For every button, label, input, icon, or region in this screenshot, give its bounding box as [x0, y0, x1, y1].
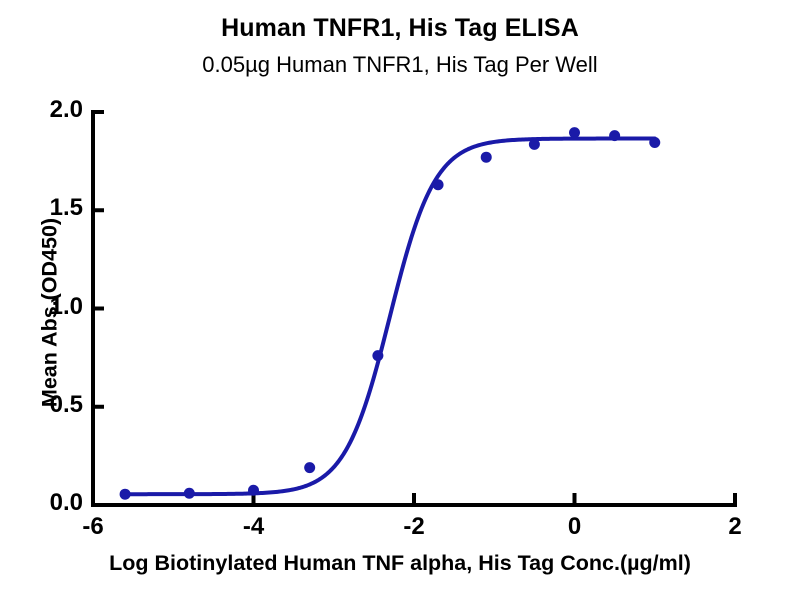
- x-tick-label: -4: [214, 513, 294, 541]
- data-point-marker: [184, 488, 195, 499]
- data-point-marker: [529, 139, 540, 150]
- data-point-marker: [433, 179, 444, 190]
- fit-curve-path: [125, 139, 655, 495]
- data-point-marker: [649, 137, 660, 148]
- data-point-marker: [248, 485, 259, 496]
- chart-figure: Human TNFR1, His Tag ELISA 0.05µg Human …: [0, 0, 800, 600]
- y-tick-label: 1.5: [11, 194, 83, 222]
- axis-frame: [91, 110, 737, 505]
- y-tick-label: 2.0: [11, 96, 83, 124]
- data-point-marker: [304, 462, 315, 473]
- fit-curve: [125, 139, 655, 495]
- plot-area: 0.00.51.01.52.0-6-4-202: [0, 0, 800, 600]
- data-point-marker: [372, 350, 383, 361]
- axis-ticks: [93, 112, 735, 505]
- y-tick-label: 0.5: [11, 391, 83, 419]
- data-point-marker: [481, 152, 492, 163]
- data-point-marker: [120, 489, 131, 500]
- x-tick-label: 2: [695, 513, 775, 541]
- data-point-marker: [569, 127, 580, 138]
- x-tick-label: -2: [374, 513, 454, 541]
- x-tick-label: 0: [535, 513, 615, 541]
- x-tick-label: -6: [53, 513, 133, 541]
- y-tick-label: 1.0: [11, 293, 83, 321]
- data-point-marker: [609, 130, 620, 141]
- plot-canvas: [0, 0, 800, 600]
